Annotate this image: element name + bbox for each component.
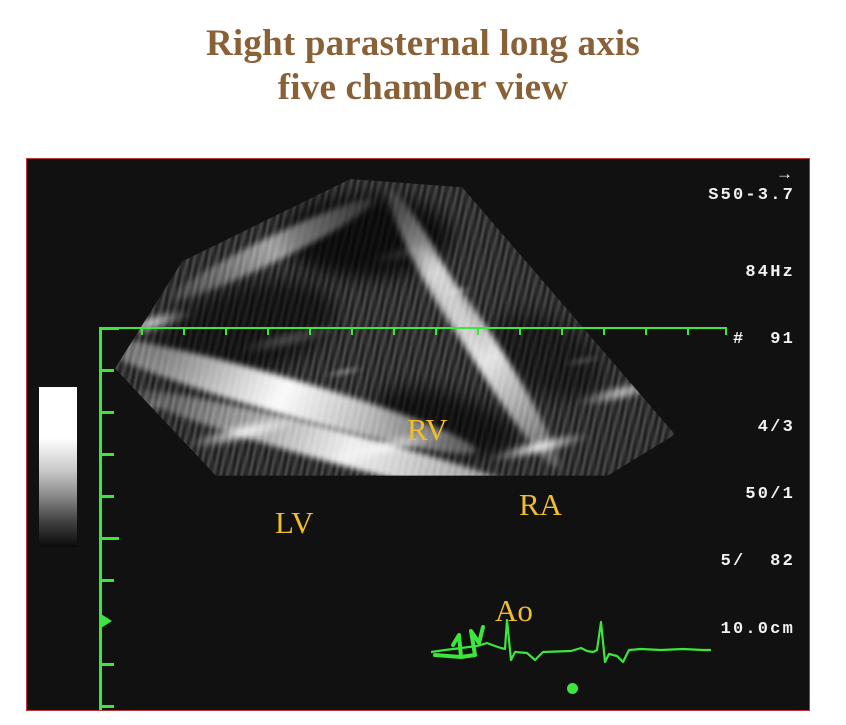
top-scale-tick <box>309 329 311 335</box>
depth-tick <box>102 579 114 582</box>
depth-tick <box>102 369 114 372</box>
top-scale-tick <box>561 329 563 335</box>
label-right-atrium: RA <box>519 489 562 520</box>
depth-tick <box>102 537 119 540</box>
probe-id-readout: S50-3.7 <box>708 185 795 207</box>
focus-marker-icon[interactable] <box>101 614 112 628</box>
top-scale-line <box>99 327 727 329</box>
top-scale-tick <box>393 329 395 335</box>
top-scale <box>99 327 727 337</box>
top-scale-tick <box>477 329 479 335</box>
param-readout-2: 50/1 <box>721 484 795 506</box>
top-scale-tick <box>603 329 605 335</box>
param-readout-3: 5/ 82 <box>721 551 795 573</box>
depth-tick <box>102 663 114 666</box>
top-scale-tick <box>687 329 689 335</box>
top-scale-tick <box>183 329 185 335</box>
frame-rate-readout: 84Hz <box>721 262 795 284</box>
ultrasound-screen: → S50-3.7 84Hz # 91 4/3 50/1 5/ 82 10.0c… <box>27 159 809 710</box>
depth-tick <box>102 705 114 708</box>
ultrasound-panel: → S50-3.7 84Hz # 91 4/3 50/1 5/ 82 10.0c… <box>26 158 810 711</box>
top-scale-tick <box>225 329 227 335</box>
ecg-trace <box>431 612 711 682</box>
top-scale-tick <box>435 329 437 335</box>
orientation-arrow-icon: → <box>776 165 793 182</box>
ecg-frame-marker-icon <box>567 683 578 694</box>
top-scale-tick <box>519 329 521 335</box>
depth-scale[interactable] <box>99 327 125 710</box>
label-right-ventricle: RV <box>407 414 448 445</box>
label-left-ventricle: LV <box>275 507 313 538</box>
bmode-sector-image <box>115 179 675 591</box>
depth-tick <box>102 453 114 456</box>
title-line-2: five chamber view <box>0 66 846 110</box>
depth-tick <box>102 327 119 330</box>
depth-tick <box>102 411 114 414</box>
page-title: Right parasternal long axis five chamber… <box>0 22 846 109</box>
title-line-1: Right parasternal long axis <box>0 22 846 66</box>
grayscale-wedge-bar <box>39 387 77 547</box>
parameter-readout-group: 4/3 50/1 5/ 82 10.0cm <box>721 372 795 686</box>
depth-tick <box>102 495 114 498</box>
frame-number-readout: # 91 <box>721 329 795 351</box>
top-scale-tick <box>141 329 143 335</box>
depth-scale-line <box>99 327 102 710</box>
top-scale-tick <box>351 329 353 335</box>
depth-readout: 10.0cm <box>721 619 795 641</box>
top-scale-tick <box>645 329 647 335</box>
top-scale-tick <box>267 329 269 335</box>
param-readout-1: 4/3 <box>721 417 795 439</box>
frame-rate-readout-group: 84Hz # 91 <box>721 217 795 397</box>
